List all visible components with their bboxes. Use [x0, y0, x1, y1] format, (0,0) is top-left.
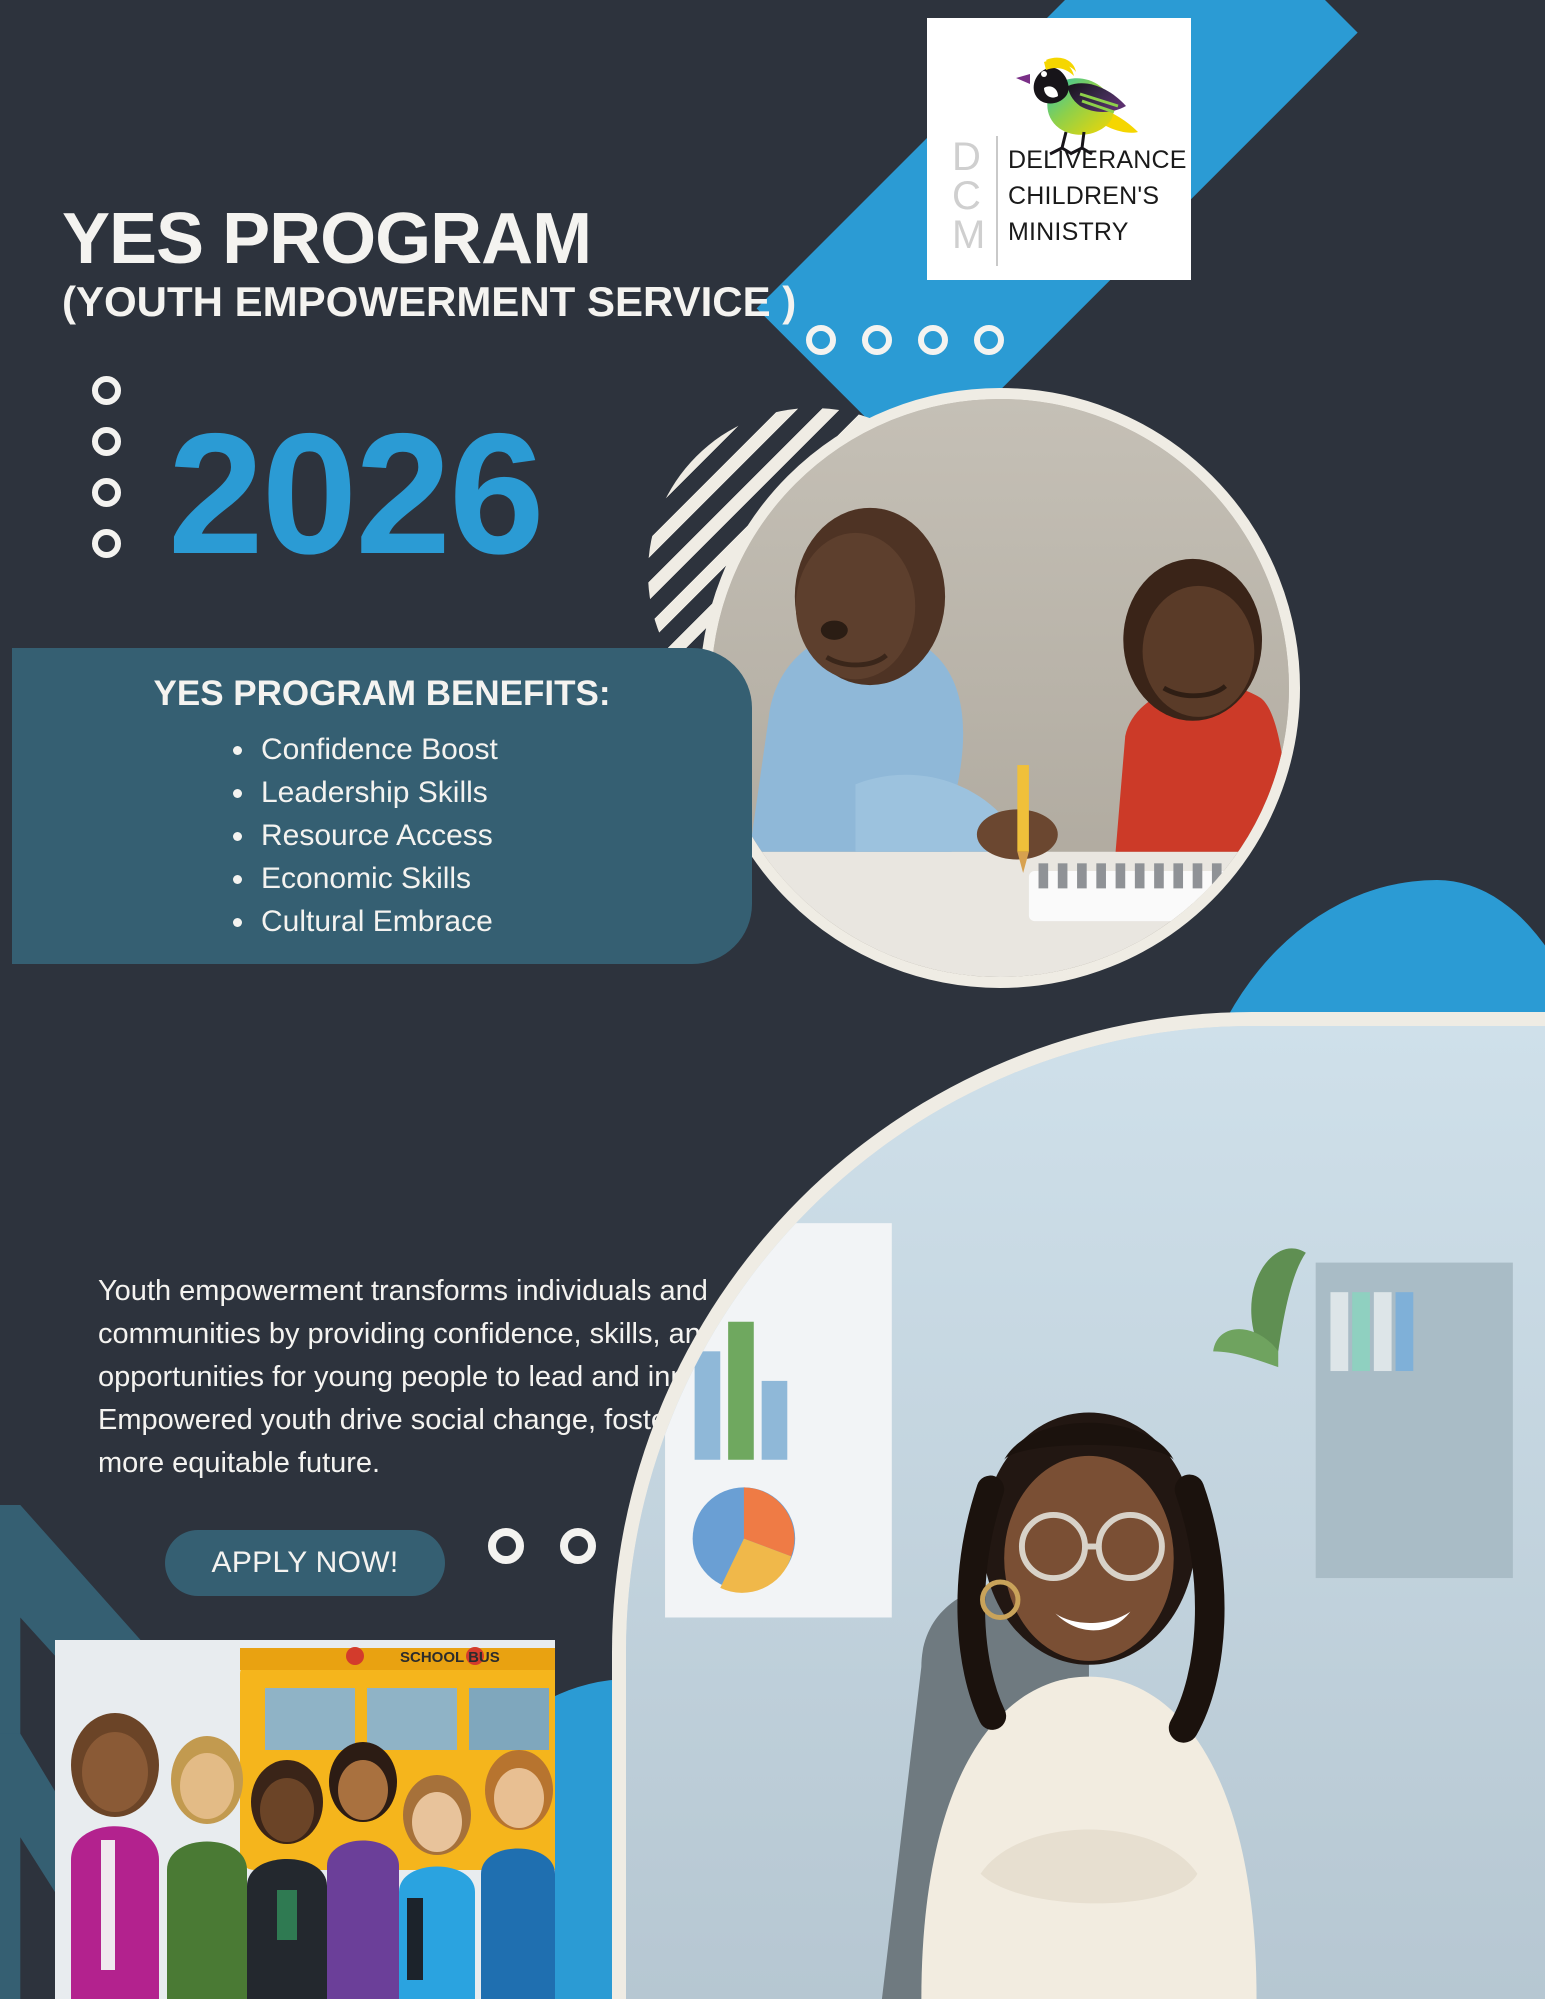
top-photo-group — [700, 388, 1300, 988]
program-year: 2026 — [168, 408, 543, 580]
benefit-item: Cultural Embrace — [227, 900, 712, 943]
ring-icon — [92, 427, 121, 456]
apply-now-button[interactable]: APPLY NOW! — [165, 1530, 445, 1596]
logo-wordmark-line-2: CHILDREN'S — [1008, 178, 1187, 214]
ring-icon — [92, 529, 121, 558]
poster-canvas: YES PROGRAM (YOUTH EMPOWERMENT SERVICE ) — [0, 0, 1545, 1999]
svg-text:SCHOOL BUS: SCHOOL BUS — [400, 1649, 500, 1666]
logo-monogram-d: D — [952, 138, 985, 177]
ring-column-left — [92, 376, 121, 558]
logo-wordmark: DELIVERANCE CHILDREN'S MINISTRY — [1008, 142, 1187, 250]
ring-icon — [974, 325, 1004, 355]
ring-icon — [92, 478, 121, 507]
ring-icon — [862, 325, 892, 355]
ring-icon — [92, 376, 121, 405]
logo-wordmark-line-1: DELIVERANCE — [1008, 142, 1187, 178]
ring-row-top — [806, 325, 1004, 355]
smiling-woman-office-photo — [612, 1012, 1545, 1999]
benefit-item: Leadership Skills — [227, 771, 712, 814]
logo-monogram: D C M — [952, 138, 985, 255]
logo-monogram-c: C — [952, 177, 985, 216]
logo-wordmark-line-3: MINISTRY — [1008, 214, 1187, 250]
man-tutoring-boy-photo — [700, 388, 1300, 988]
page-subtitle: (YOUTH EMPOWERMENT SERVICE ) — [62, 278, 796, 326]
benefits-list: Confidence Boost Leadership Skills Resou… — [52, 728, 712, 943]
benefit-item: Resource Access — [227, 814, 712, 857]
logo-divider — [996, 136, 998, 266]
benefits-heading: YES PROGRAM BENEFITS: — [52, 674, 712, 714]
ring-icon — [560, 1528, 596, 1564]
benefits-panel: YES PROGRAM BENEFITS: Confidence Boost L… — [12, 648, 752, 964]
benefit-item: Economic Skills — [227, 857, 712, 900]
ring-icon — [918, 325, 948, 355]
organization-logo: D C M DELIVERANCE CHILDREN'S MINISTRY — [927, 18, 1191, 280]
page-title: YES PROGRAM — [62, 198, 591, 280]
ring-icon — [806, 325, 836, 355]
logo-monogram-m: M — [952, 216, 985, 255]
children-school-bus-photo: SCHOOL BUS — [55, 1640, 555, 1999]
benefit-item: Confidence Boost — [227, 728, 712, 771]
diagonal-stripe-top-left-1 — [0, 0, 44, 282]
ring-icon — [488, 1528, 524, 1564]
